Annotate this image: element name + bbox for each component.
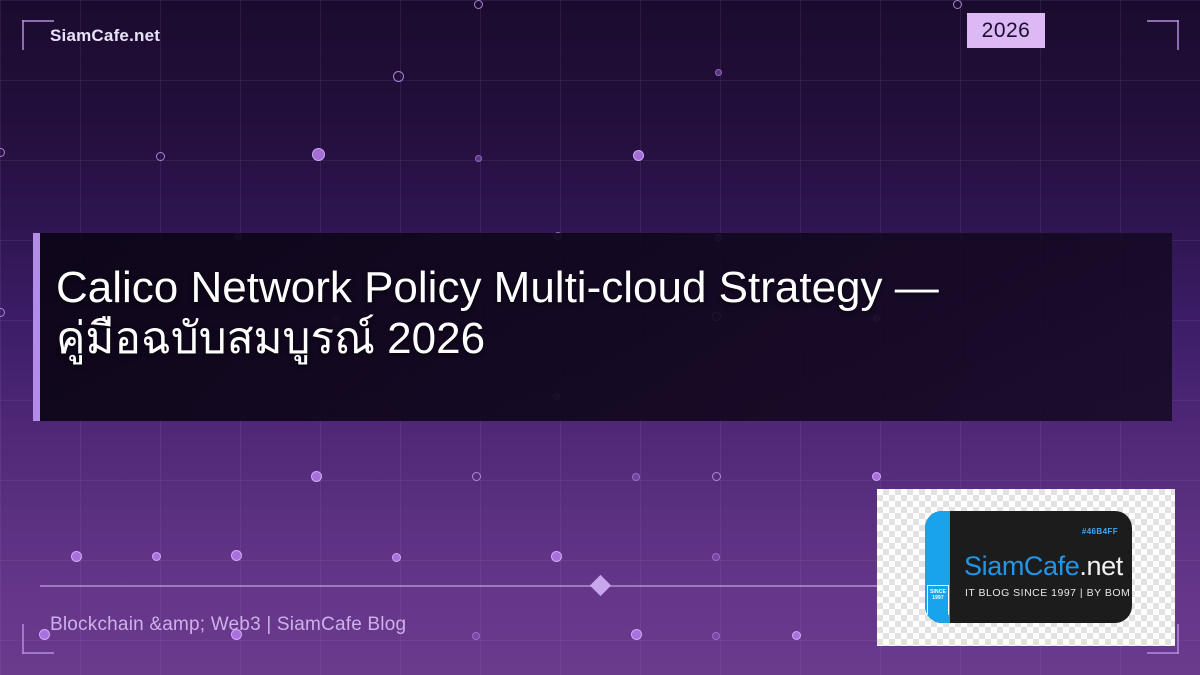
- decor-dot: [311, 471, 322, 482]
- wordmark-secondary: .net: [1079, 551, 1122, 581]
- decor-dot: [71, 551, 82, 562]
- decor-dot: [472, 632, 480, 640]
- decor-dot: [474, 0, 483, 9]
- corner-bracket-top-right: [1147, 20, 1179, 50]
- decor-dot: [712, 632, 720, 640]
- logo-wordmark: SiamCafe.net: [964, 551, 1123, 582]
- decor-dot: [715, 69, 722, 76]
- page-title: Calico Network Policy Multi-cloud Strate…: [56, 262, 1156, 364]
- decor-dot: [152, 552, 161, 561]
- title-accent-bar: [33, 233, 40, 421]
- decor-dot: [475, 155, 482, 162]
- decor-dot: [632, 473, 640, 481]
- decor-dot: [0, 308, 5, 317]
- logo-card: SINCE 1997 #46B4FF SiamCafe.net IT BLOG …: [877, 489, 1175, 646]
- footer-category-label: Blockchain &amp; Web3 | SiamCafe Blog: [50, 614, 406, 636]
- wordmark-primary: SiamCafe: [964, 551, 1079, 581]
- decor-dot: [393, 71, 404, 82]
- decor-dot: [631, 629, 642, 640]
- decor-dot: [551, 551, 562, 562]
- decor-dot: [712, 472, 721, 481]
- decor-dot: [953, 0, 962, 9]
- ribbon-line-2: 1997: [932, 595, 944, 601]
- site-name-label: SiamCafe.net: [50, 26, 160, 46]
- decor-dot: [712, 553, 720, 561]
- logo-tagline: IT BLOG SINCE 1997 | BY BOM: [965, 587, 1130, 599]
- year-badge: 2026: [967, 13, 1045, 48]
- decor-dot: [231, 550, 242, 561]
- decor-dot: [472, 472, 481, 481]
- slide-canvas: SiamCafe.net 2026 Calico Network Policy …: [0, 0, 1200, 675]
- decor-dot: [392, 553, 401, 562]
- decor-dot: [0, 148, 5, 157]
- decor-dot: [156, 152, 165, 161]
- hex-code-label: #46B4FF: [1082, 527, 1118, 536]
- logo-inner-panel: SINCE 1997 #46B4FF SiamCafe.net IT BLOG …: [925, 511, 1132, 623]
- decor-dot: [872, 472, 881, 481]
- decor-dot: [792, 631, 801, 640]
- decor-dot: [312, 148, 325, 161]
- decor-dot: [633, 150, 644, 161]
